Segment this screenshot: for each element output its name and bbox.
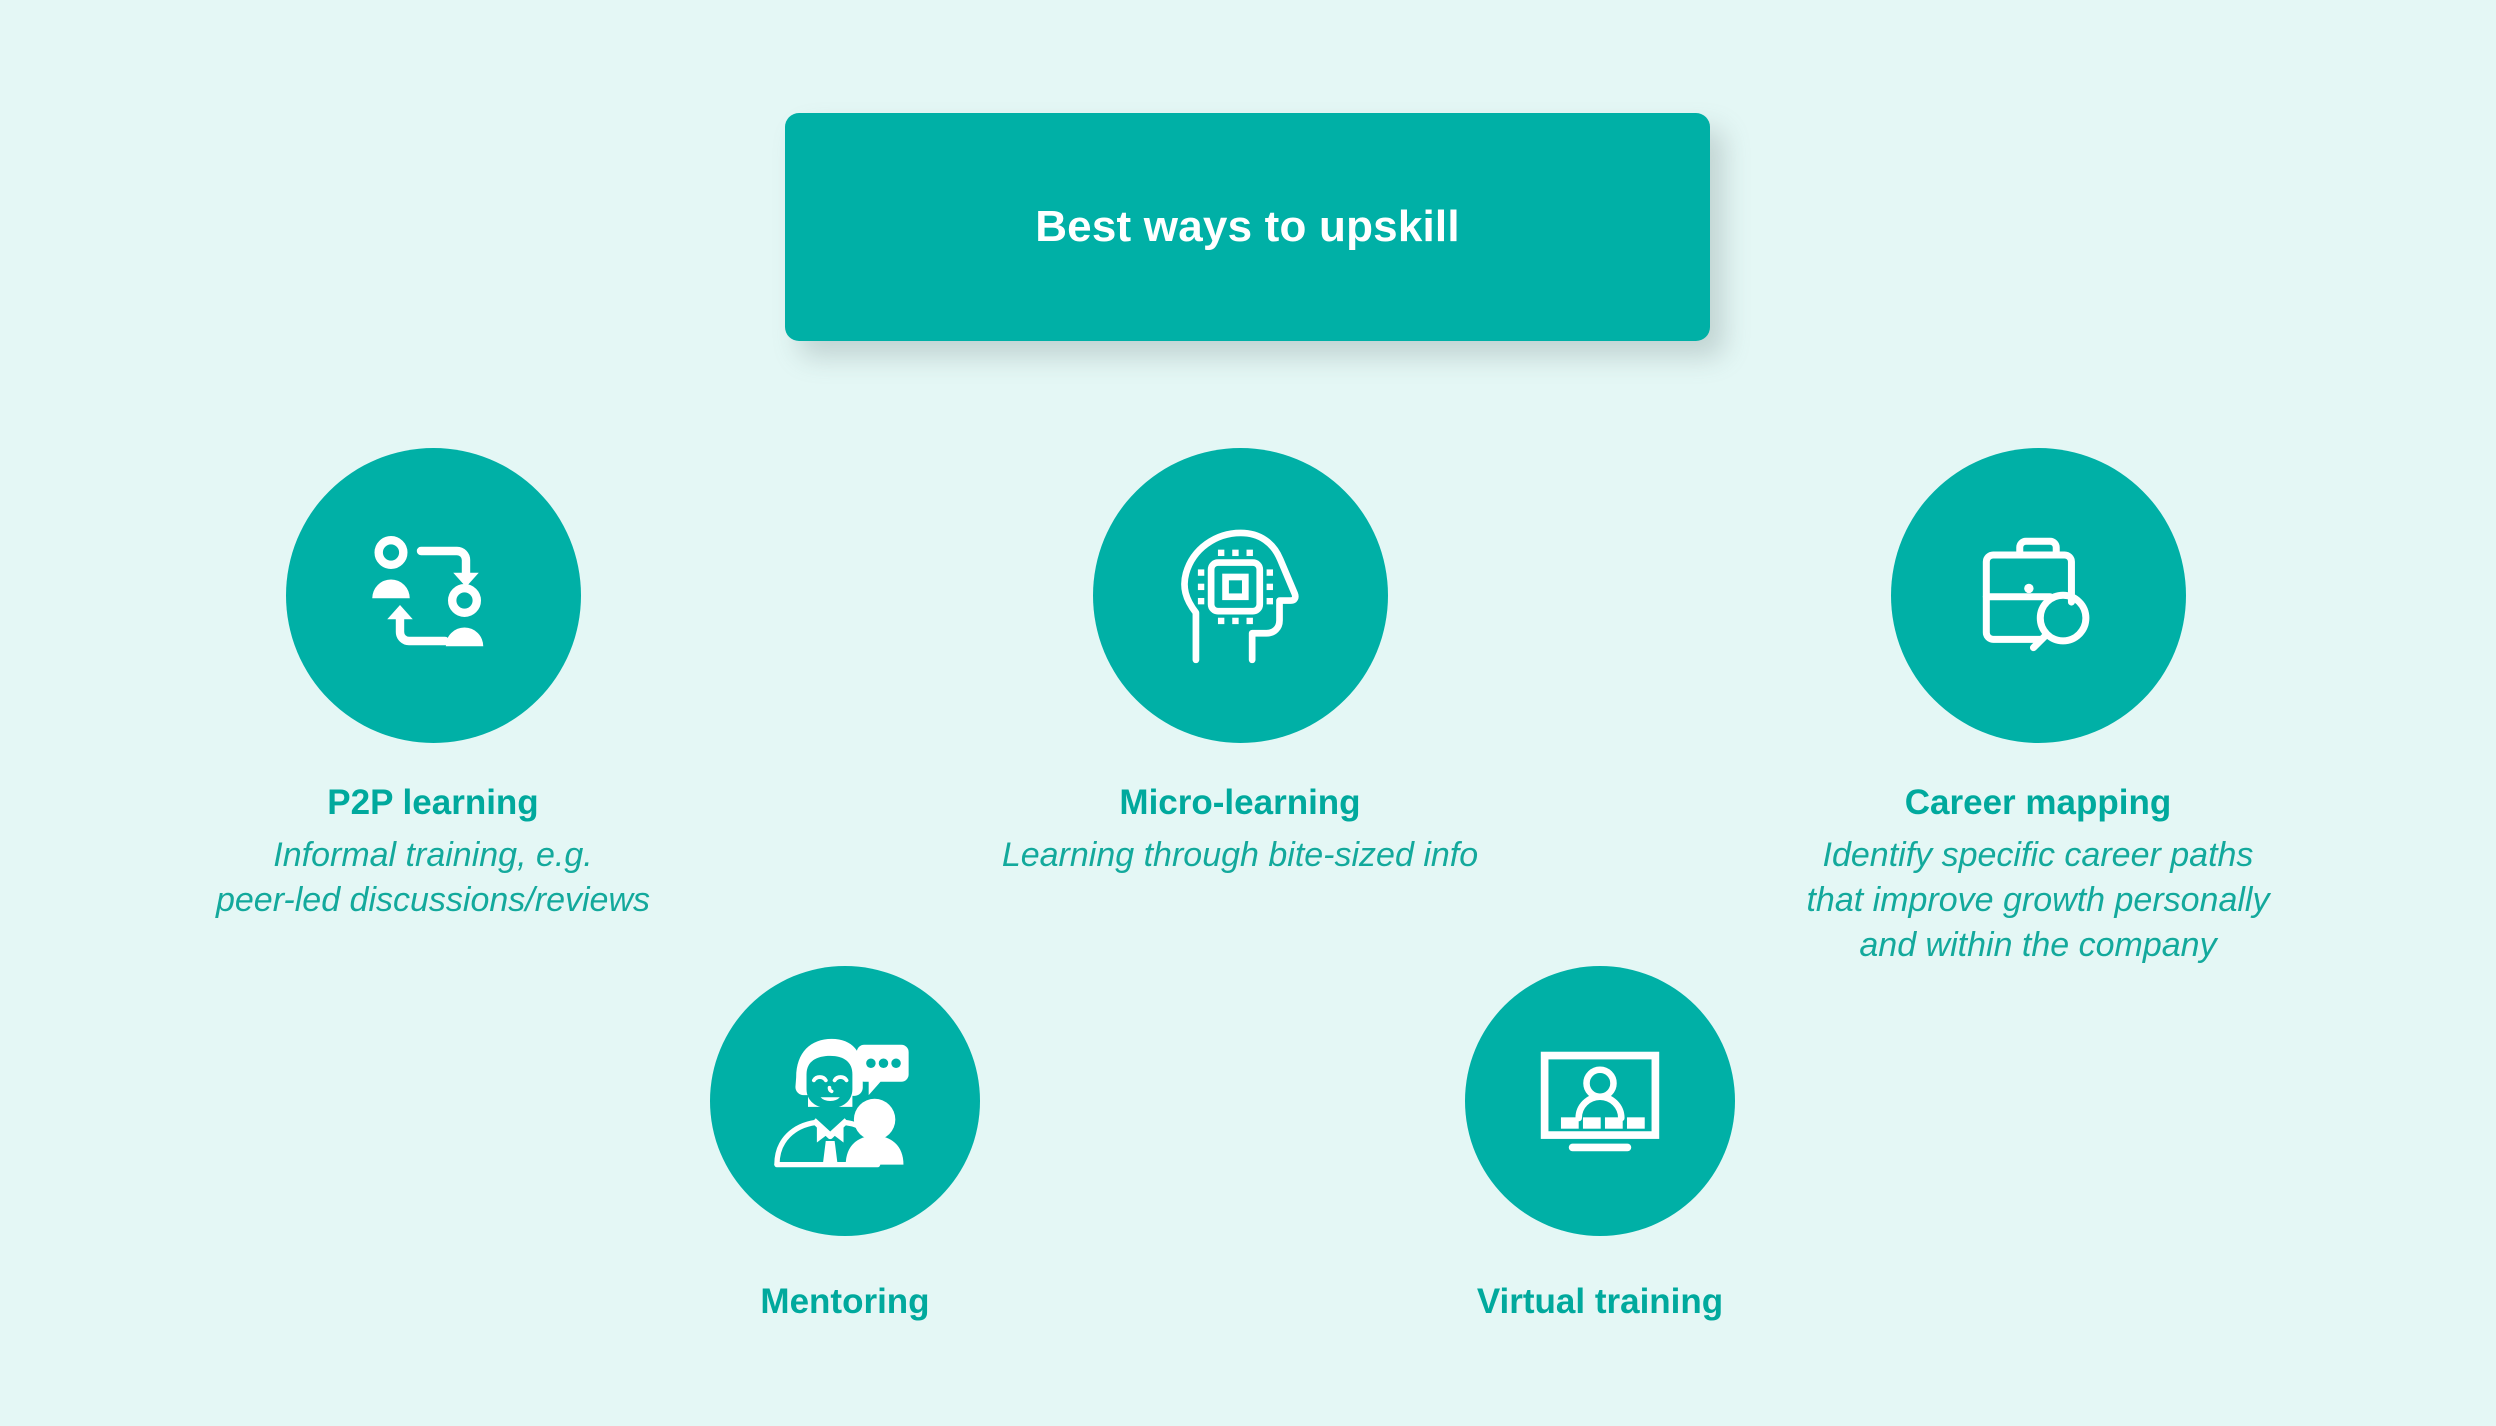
item-mentoring: Mentoring (560, 966, 1130, 1322)
item-micro-learning: Micro-learning Learning through bite-siz… (920, 448, 1560, 878)
icon-circle-virtual (1465, 966, 1735, 1236)
item-label-virtual: Virtual training (1477, 1282, 1723, 1322)
icon-circle-career (1891, 448, 2186, 743)
mentor-speech-icon (771, 1027, 919, 1175)
icon-circle-mentoring (710, 966, 980, 1236)
item-p2p-learning: P2P learning Informal training, e.g. pee… (148, 448, 718, 923)
briefcase-search-icon (1962, 520, 2114, 672)
title-banner: Best ways to upskill (785, 113, 1710, 341)
page-title: Best ways to upskill (1035, 203, 1460, 251)
item-label-micro: Micro-learning (1119, 783, 1360, 823)
icon-circle-p2p (286, 448, 581, 743)
monitor-person-icon (1529, 1030, 1671, 1172)
icon-circle-micro (1093, 448, 1388, 743)
item-label-mentoring: Mentoring (760, 1282, 929, 1322)
item-label-career: Career mapping (1905, 783, 2171, 823)
head-microchip-icon (1164, 520, 1316, 672)
item-career-mapping: Career mapping Identify specific career … (1708, 448, 2368, 968)
item-virtual-training: Virtual training (1315, 966, 1885, 1322)
item-description-micro: Learning through bite-sized info (1002, 833, 1478, 878)
infographic-canvas: Best ways to upskill (0, 0, 2496, 1426)
peer-exchange-icon (358, 521, 508, 671)
item-description-career: Identify specific career paths that impr… (1806, 833, 2269, 968)
item-description-p2p: Informal training, e.g. peer-led discuss… (216, 833, 650, 923)
item-label-p2p: P2P learning (327, 783, 538, 823)
